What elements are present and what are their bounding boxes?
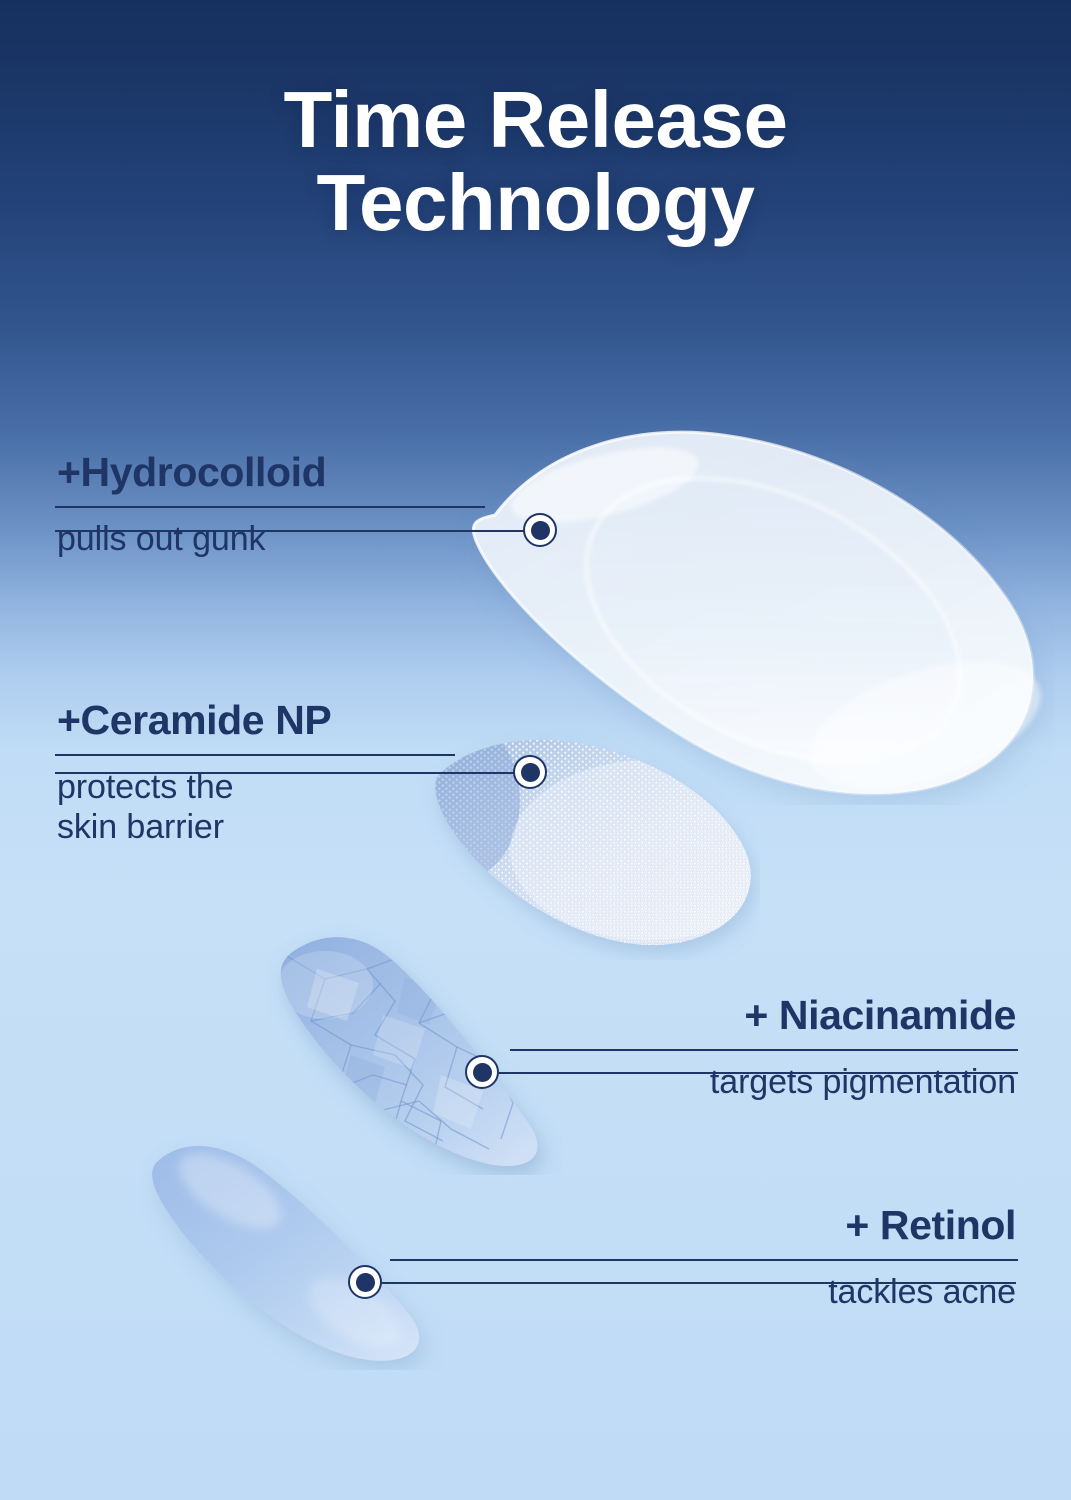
page-title-line-1: Time Release (0, 78, 1071, 161)
callout-subtext-ceramide-line-2: skin barrier (57, 807, 455, 847)
callout-rule-ceramide (55, 754, 455, 756)
callout-ceramide: +Ceramide NP protects the skin barrier (55, 700, 455, 847)
time-release-technology-poster: Time Release Technology (0, 0, 1071, 1500)
callout-subtext-ceramide-line-1: protects the (57, 767, 455, 807)
callout-subtext-ceramide: protects the skin barrier (57, 767, 455, 847)
callout-subtext-hydrocolloid: pulls out gunk (57, 519, 485, 559)
callout-subtext-retinol: tackles acne (390, 1272, 1016, 1312)
callout-hydrocolloid: +Hydrocolloid pulls out gunk (55, 452, 485, 559)
page-title: Time Release Technology (0, 78, 1071, 244)
callout-niacinamide: + Niacinamide targets pigmentation (510, 995, 1018, 1102)
callout-heading-retinol: + Retinol (390, 1205, 1016, 1246)
callout-heading-ceramide: +Ceramide NP (57, 700, 455, 741)
page-title-line-2: Technology (0, 161, 1071, 244)
callout-rule-niacinamide (510, 1049, 1018, 1051)
callout-dot-icon-niacinamide[interactable] (465, 1055, 499, 1089)
callout-dot-icon-hydrocolloid[interactable] (523, 513, 557, 547)
callout-retinol: + Retinol tackles acne (390, 1205, 1018, 1312)
callout-subtext-niacinamide: targets pigmentation (510, 1062, 1016, 1102)
callout-heading-niacinamide: + Niacinamide (510, 995, 1016, 1036)
callout-dot-icon-retinol[interactable] (348, 1265, 382, 1299)
callout-rule-hydrocolloid (55, 506, 485, 508)
callout-dot-icon-ceramide[interactable] (513, 755, 547, 789)
callout-heading-hydrocolloid: +Hydrocolloid (57, 452, 485, 493)
callout-rule-retinol (390, 1259, 1018, 1261)
